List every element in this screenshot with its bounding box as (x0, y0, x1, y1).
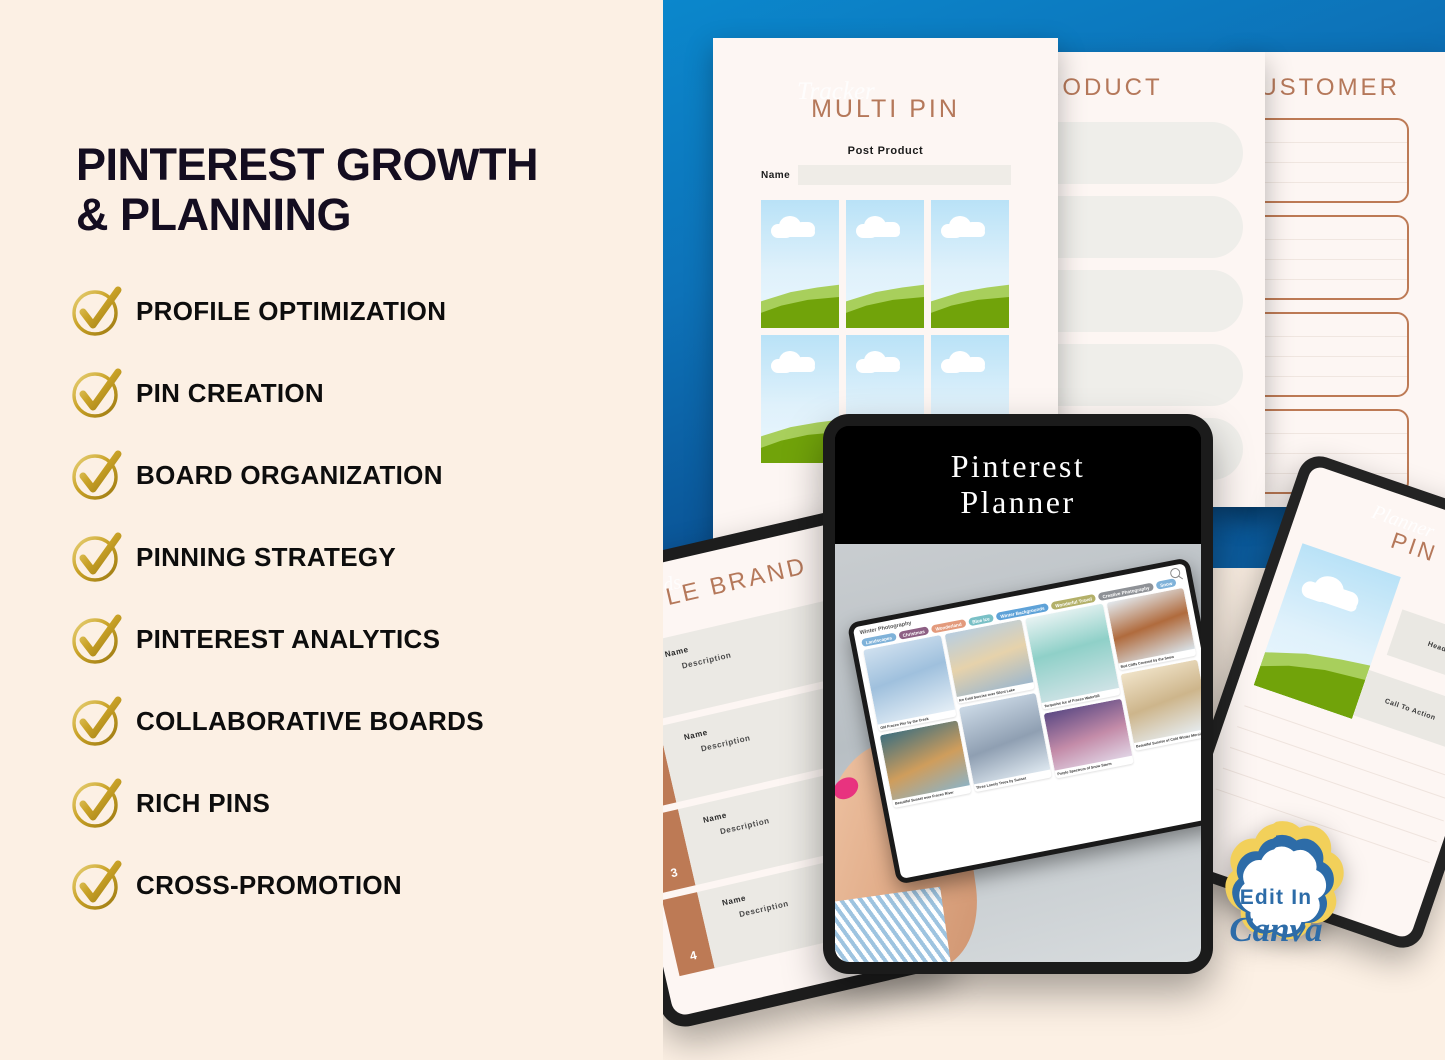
pinterest-planner-screen: Pinterest Planner Winter Photography (835, 426, 1201, 962)
cloud-icon (856, 216, 900, 236)
cloud-icon (771, 216, 815, 236)
feature-label: Collaborative Boards (136, 706, 484, 737)
board-pin[interactable]: Old Frozen Pier by the Creek (863, 635, 956, 732)
cloud-icon (1300, 569, 1363, 612)
list-item: Board Organization (68, 448, 648, 502)
list-item: Rich Pins (68, 776, 648, 830)
pin-thumbnail (761, 200, 839, 328)
planner-title-line-1: Pinterest (951, 449, 1085, 485)
feature-label: Board Organization (136, 460, 443, 491)
name-input[interactable] (798, 165, 1011, 185)
check-circle-icon (68, 529, 124, 585)
planner-cover-photo: Winter Photography Landscapes Christmas … (835, 544, 1201, 962)
feature-label: Cross-Promotion (136, 870, 402, 901)
board-tag[interactable]: Snow (1155, 578, 1176, 590)
product-mockup-scene: Customer Product (663, 0, 1445, 1060)
left-info-panel: Pinterest Growth & Planning Profile Opti… (0, 0, 663, 1060)
check-circle-icon (68, 611, 124, 667)
list-item: Pinning Strategy (68, 530, 648, 584)
name-label: Name (761, 170, 790, 181)
feature-label: Pinning Strategy (136, 542, 396, 573)
board-pin[interactable]: Turquoise Ice of Frozen Waterfall (1025, 604, 1120, 711)
board-pin[interactable]: Beautiful Sunset over Frozen River (880, 721, 971, 808)
check-circle-icon (68, 693, 124, 749)
page-title: Pinterest Growth & Planning (76, 140, 636, 241)
list-item: Profile Optimization (68, 284, 648, 338)
headline-line-2: & Planning (76, 190, 636, 240)
feature-label: Rich Pins (136, 788, 270, 819)
striped-fabric (835, 887, 953, 962)
list-item: Collaborative Boards (68, 694, 648, 748)
call-to-action-field[interactable]: Call To Action (1353, 670, 1445, 749)
poster-canvas: Pinterest Growth & Planning Profile Opti… (0, 0, 1445, 1060)
multi-pin-card-title: Multi Pin (713, 95, 1058, 124)
feature-label: Profile Optimization (136, 296, 446, 327)
scalloped-badge-shape (1178, 818, 1374, 1014)
board-pin[interactable]: Beautiful Sunrise of Cold Winter Morning (1120, 660, 1201, 751)
edit-in-canva-badge[interactable]: Edit In Canva (1178, 818, 1374, 1014)
multi-pin-name-row: Name (761, 165, 1011, 185)
list-item: Cross-Promotion (68, 858, 648, 912)
feature-list: Profile Optimization Pin Creation (68, 284, 648, 940)
pin-thumbnail (931, 200, 1009, 328)
multi-pin-subtitle: Post Product (713, 145, 1058, 157)
list-item: Pinterest Analytics (68, 612, 648, 666)
pinterest-planner-tablet: Pinterest Planner Winter Photography (823, 414, 1213, 974)
check-circle-icon (68, 447, 124, 503)
board-tag[interactable]: Christmas (898, 626, 929, 640)
board-tag[interactable]: Blue Ice (968, 614, 995, 627)
planner-title-line-2: Planner (960, 485, 1075, 521)
fingernail (835, 773, 862, 804)
headline-line-1: Pinterest Growth (76, 139, 538, 190)
feature-label: Pin Creation (136, 378, 324, 409)
check-circle-icon (68, 365, 124, 421)
check-circle-icon (68, 857, 124, 913)
check-circle-icon (68, 775, 124, 831)
board-pin[interactable]: Purple Spectrum of Snow Storm (1044, 699, 1134, 778)
board-pin[interactable]: Red Cliffs Covered by the Snow (1106, 588, 1196, 671)
feature-label: Pinterest Analytics (136, 624, 440, 655)
pinterest-board-screen: Winter Photography Landscapes Christmas … (853, 563, 1201, 879)
cloud-icon (856, 351, 900, 371)
pin-thumbnail (846, 200, 924, 328)
check-circle-icon (68, 283, 124, 339)
board-pin[interactable]: Ice Cold Sunrise over Silent Lake (944, 619, 1035, 704)
cloud-icon (941, 351, 985, 371)
cloud-icon (771, 351, 815, 371)
cloud-icon (941, 216, 985, 236)
inner-tablet-device: Winter Photography Landscapes Christmas … (847, 557, 1201, 885)
list-item: Pin Creation (68, 366, 648, 420)
board-pin[interactable]: Three Lonely Trees by Sunset (959, 693, 1052, 792)
planner-cover-header: Pinterest Planner (835, 426, 1201, 544)
headline-field[interactable]: Headline (1387, 609, 1445, 688)
